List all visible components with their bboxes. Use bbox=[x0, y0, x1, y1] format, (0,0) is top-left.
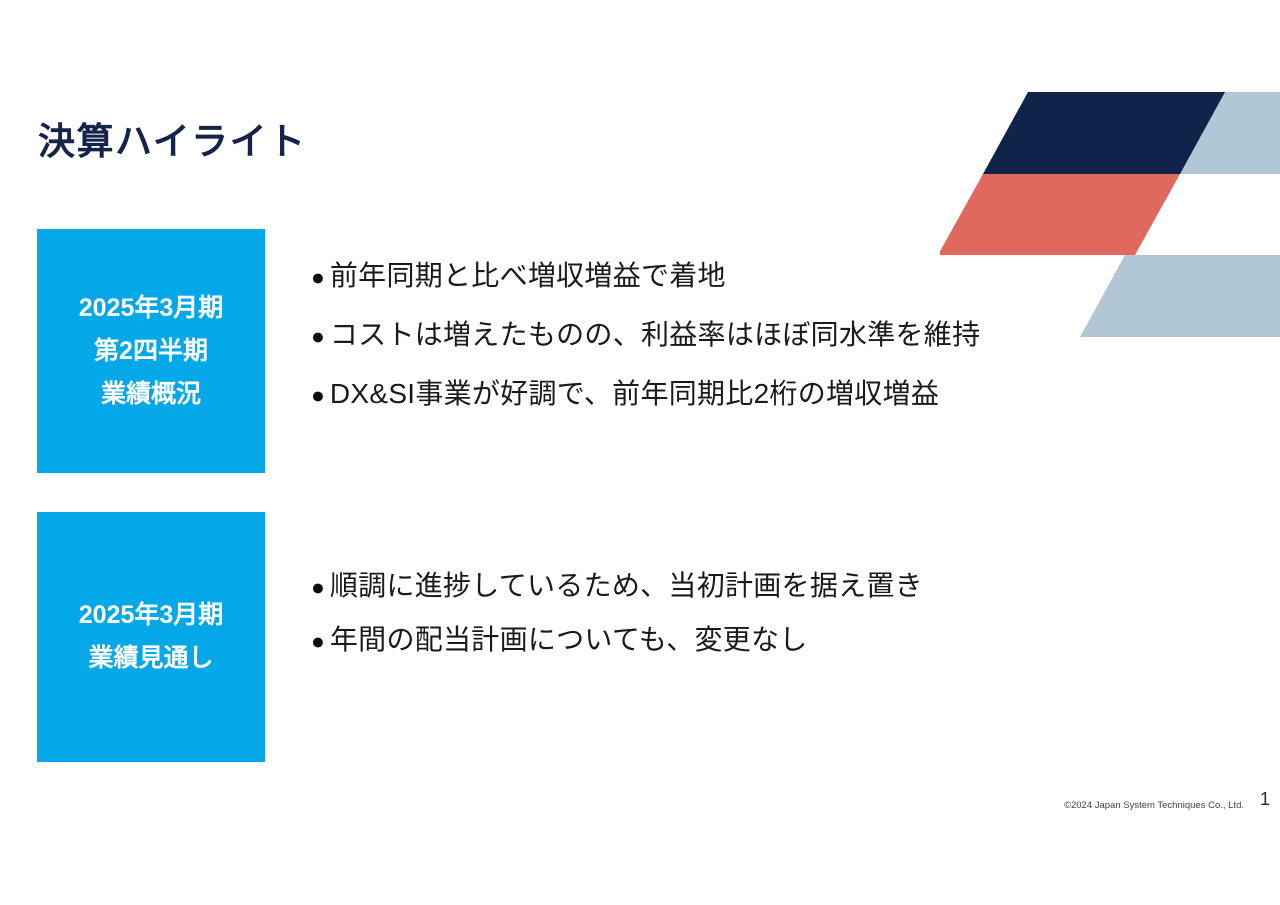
bullet-dot-icon: ● bbox=[311, 266, 325, 289]
page-number: 1 bbox=[1260, 789, 1270, 810]
light-blue-top-parallelogram bbox=[1040, 92, 1280, 174]
navy-parallelogram bbox=[983, 92, 1225, 174]
section-label-forecast: 2025年3月期 業績見通し bbox=[37, 512, 265, 762]
section-label-line: 第2四半期 bbox=[94, 330, 208, 373]
bullet-dot-icon: ● bbox=[311, 576, 325, 599]
bullet-text: 年間の配当計画についても、変更なし bbox=[330, 626, 808, 654]
bullet-text: 順調に進捗しているため、当初計画を据え置き bbox=[330, 572, 923, 600]
bullet-dot-icon: ● bbox=[311, 325, 325, 348]
bullet-item: ● DX&SI事業が好調で、前年同期比2桁の増収増益 bbox=[311, 380, 980, 408]
section-label-line: 業績概況 bbox=[101, 373, 201, 416]
red-parallelogram bbox=[940, 174, 1180, 255]
bullet-item: ● コストは増えたものの、利益率はほぼ同水準を維持 bbox=[311, 321, 980, 349]
bullet-item: ● 年間の配当計画についても、変更なし bbox=[311, 626, 923, 654]
bullet-text: コストは増えたものの、利益率はほぼ同水準を維持 bbox=[330, 321, 980, 349]
section-label-line: 業績見通し bbox=[88, 637, 213, 680]
light-blue-bottom-parallelogram bbox=[1080, 255, 1280, 337]
bullet-text: DX&SI事業が好調で、前年同期比2桁の増収増益 bbox=[330, 380, 939, 408]
bullet-item: ● 順調に進捗しているため、当初計画を据え置き bbox=[311, 572, 923, 600]
slide-canvas: 決算ハイライト 2025年3月期 第2四半期 業績概況 ● 前年同期と比べ増収増… bbox=[0, 0, 1280, 905]
bullet-list-forecast: ● 順調に進捗しているため、当初計画を据え置き ● 年間の配当計画についても、変… bbox=[311, 572, 923, 680]
section-label-line: 2025年3月期 bbox=[79, 287, 224, 330]
bullet-list-results: ● 前年同期と比べ増収増益で着地 ● コストは増えたものの、利益率はほぼ同水準を… bbox=[311, 262, 980, 408]
copyright-notice: ©2024 Japan System Techniques Co., Ltd. bbox=[1064, 800, 1244, 811]
section-label-line: 2025年3月期 bbox=[79, 594, 224, 637]
bullet-text: 前年同期と比べ増収増益で着地 bbox=[330, 262, 726, 290]
jast-corner-logo bbox=[940, 92, 1280, 337]
bullet-item: ● 前年同期と比べ増収増益で着地 bbox=[311, 262, 980, 290]
bullet-dot-icon: ● bbox=[311, 630, 325, 653]
section-label-results: 2025年3月期 第2四半期 業績概況 bbox=[37, 229, 265, 473]
bullet-dot-icon: ● bbox=[311, 384, 325, 407]
page-title: 決算ハイライト bbox=[38, 119, 307, 165]
